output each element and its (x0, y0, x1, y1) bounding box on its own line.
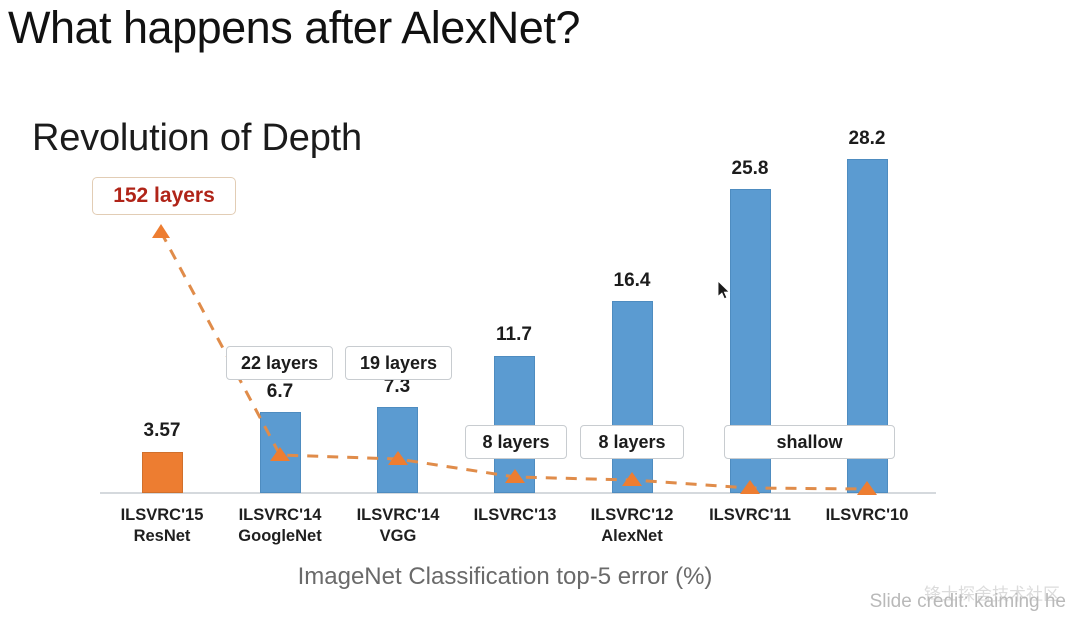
bar-ILSVRC14-GoogleNet (260, 412, 301, 493)
bar-value-label: 28.2 (822, 128, 912, 150)
bar-value-label: 25.8 (705, 158, 795, 180)
slide-canvas: What happens after AlexNet? Revolution o… (0, 0, 1080, 619)
annotation-shallow: shallow (724, 425, 895, 459)
bar-value-label: 6.7 (235, 381, 325, 403)
annotation-8-layers: 8 layers (580, 425, 684, 459)
trend-arrowhead-icon (152, 224, 170, 238)
bar-ILSVRC14-VGG (377, 407, 418, 493)
chart-caption: ImageNet Classification top-5 error (%) (0, 563, 1010, 591)
x-tick-year: ILSVRC'15 (121, 506, 204, 524)
annotation-22-layers: 22 layers (226, 346, 333, 380)
annotation-19-layers: 19 layers (345, 346, 452, 380)
x-tick-year: ILSVRC'14 (357, 506, 440, 524)
x-tick-model: VGG (323, 526, 473, 547)
annotation-8-layers: 8 layers (465, 425, 567, 459)
bar-ILSVRC15-ResNet (142, 452, 183, 493)
x-tick-year: ILSVRC'11 (709, 506, 791, 524)
bar-ILSVRC12-AlexNet (612, 301, 653, 493)
x-tick-ILSVRC10: ILSVRC'10 (792, 505, 942, 526)
bar-chart: 3.576.77.311.716.425.828.2 22 layers19 l… (0, 0, 1080, 619)
x-tick-model: AlexNet (557, 526, 707, 547)
bar-value-label: 3.57 (117, 420, 207, 442)
x-tick-year: ILSVRC'14 (239, 506, 322, 524)
x-tick-year: ILSVRC'13 (474, 506, 557, 524)
x-tick-year: ILSVRC'10 (826, 506, 909, 524)
slide-credit: Slide credit: kaiming he (870, 591, 1066, 613)
bar-value-label: 16.4 (587, 270, 677, 292)
bar-value-label: 11.7 (469, 324, 559, 346)
x-tick-year: ILSVRC'12 (591, 506, 674, 524)
mouse-cursor (718, 281, 732, 301)
